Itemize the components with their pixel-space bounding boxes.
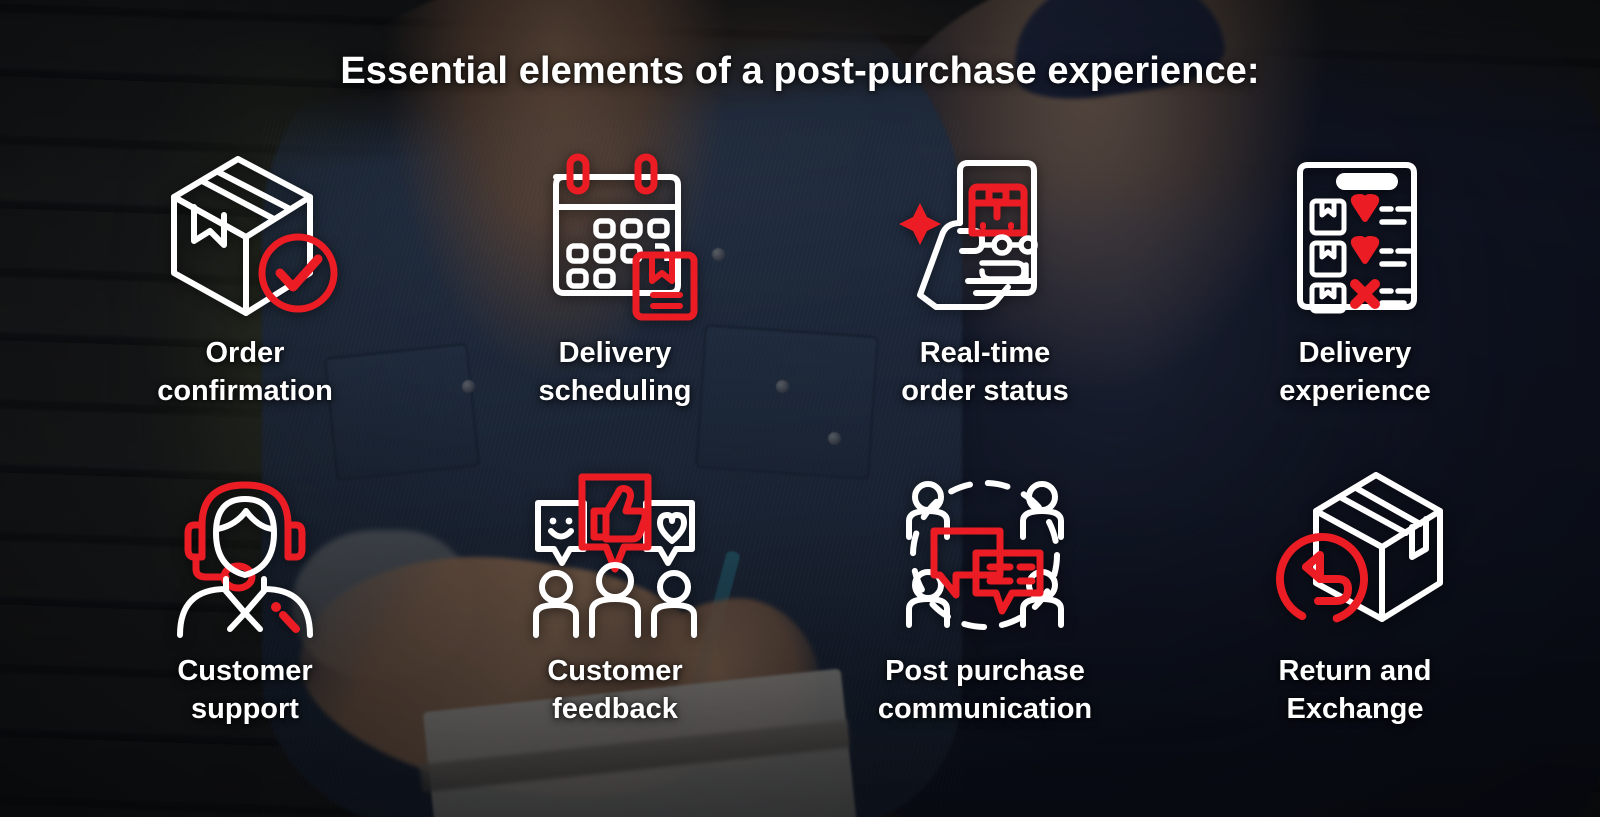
order-confirmation-icon	[150, 140, 340, 330]
element-label: Order confirmation	[157, 334, 333, 411]
check-badge	[262, 237, 334, 309]
thumbs-up-icon	[582, 477, 648, 569]
element-label: Post purchase communication	[878, 652, 1092, 729]
element-post-purchase-communication: Post purchase communication	[800, 458, 1170, 776]
delivery-experience-icon	[1260, 140, 1450, 330]
element-label: Customer support	[177, 652, 312, 729]
element-label: Delivery scheduling	[538, 334, 691, 411]
return-and-exchange-icon	[1260, 458, 1450, 648]
post-purchase-communication-icon	[890, 458, 1080, 648]
element-delivery-experience: Delivery experience	[1170, 140, 1540, 458]
element-order-confirmation: Order confirmation	[60, 140, 430, 458]
delivery-scheduling-icon	[520, 140, 710, 330]
infographic-canvas: Essential elements of a post-purchase ex…	[0, 0, 1600, 817]
status-marks	[1354, 197, 1377, 304]
real-time-order-status-icon	[890, 140, 1080, 330]
element-label: Delivery experience	[1279, 334, 1431, 411]
element-label: Real-time order status	[901, 334, 1069, 411]
customer-support-icon	[150, 458, 340, 648]
element-delivery-scheduling: Delivery scheduling	[430, 140, 800, 458]
accent-dots	[271, 602, 296, 629]
elements-grid: Order confirmation	[60, 140, 1540, 776]
chat-bubbles-icon	[934, 531, 1040, 611]
parcel-badge	[636, 255, 694, 317]
sparkle-icon	[899, 203, 941, 245]
element-label: Customer feedback	[547, 652, 682, 729]
parcel-on-screen	[972, 187, 1024, 233]
element-label: Return and Exchange	[1278, 652, 1431, 729]
element-customer-support: Customer support	[60, 458, 430, 776]
customer-feedback-icon	[520, 458, 710, 648]
element-real-time-order-status: Real-time order status	[800, 140, 1170, 458]
element-customer-feedback: Customer feedback	[430, 458, 800, 776]
page-title: Essential elements of a post-purchase ex…	[0, 50, 1600, 93]
element-return-and-exchange: Return and Exchange	[1170, 458, 1540, 776]
